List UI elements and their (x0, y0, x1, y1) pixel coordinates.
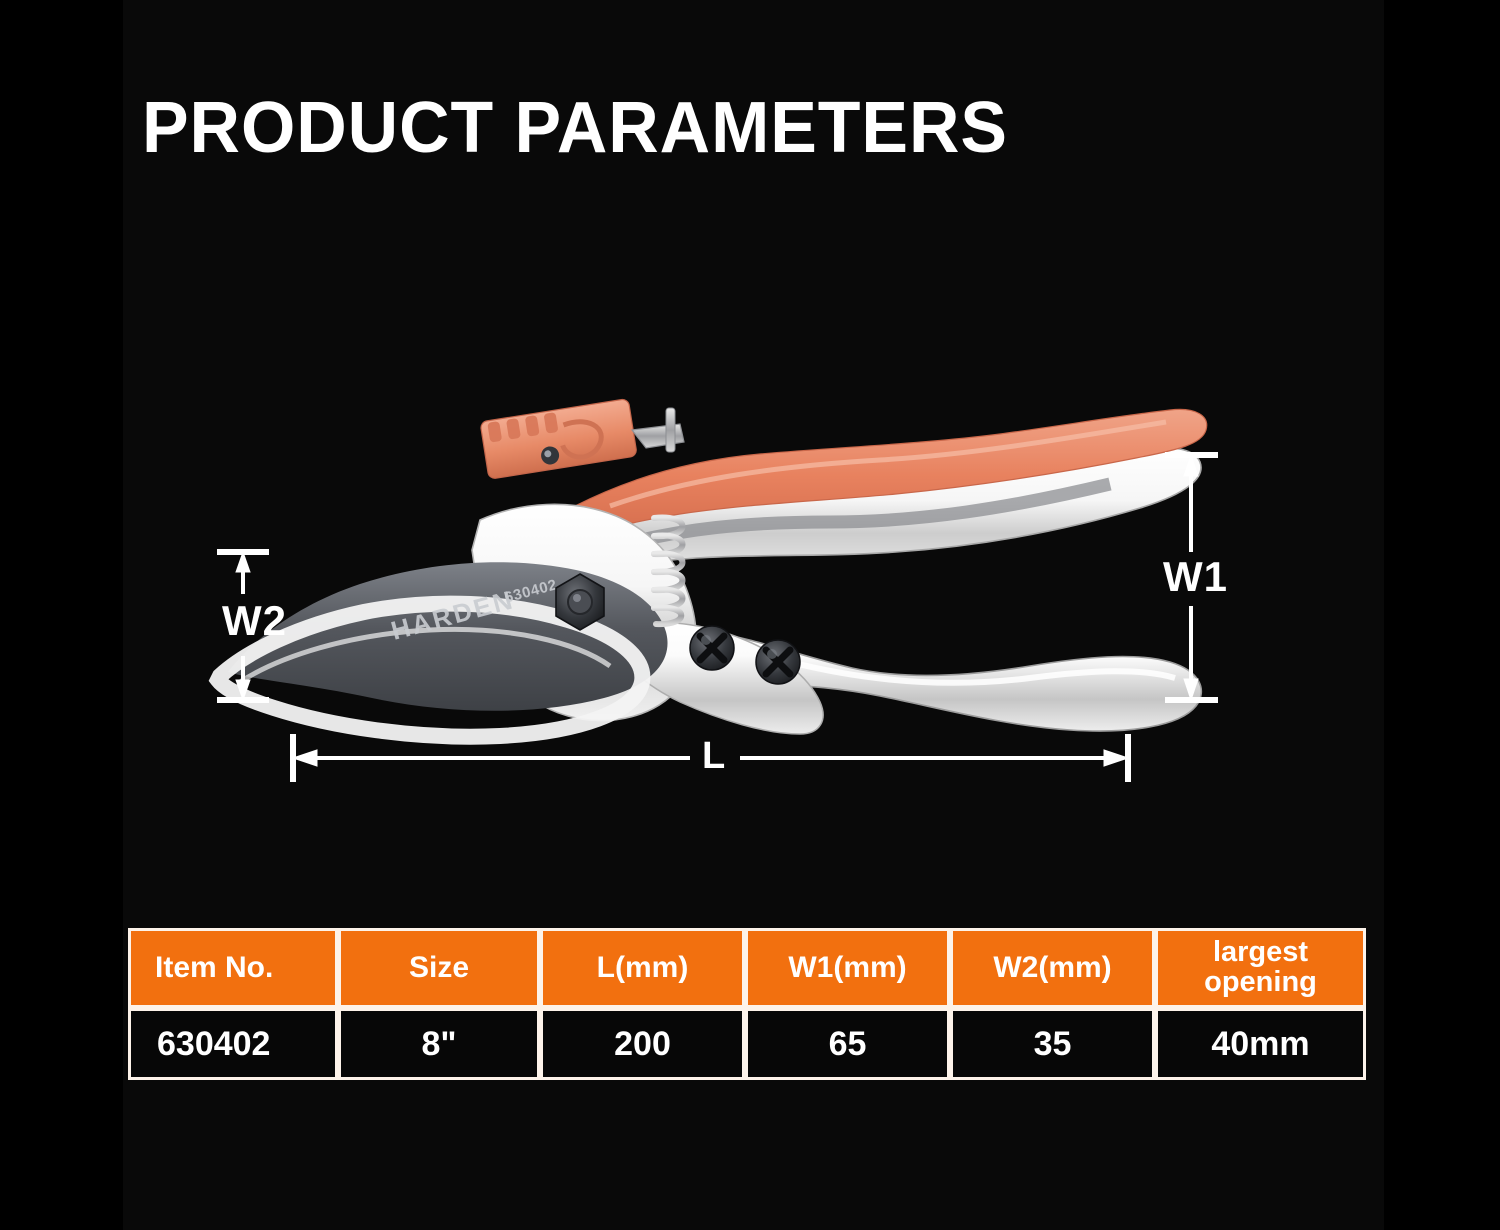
phillips-screw-upper (690, 626, 734, 670)
page-title: PRODUCT PARAMETERS (142, 92, 1008, 164)
cell-size: 8" (338, 1008, 540, 1080)
table-row: 630402 8" 200 65 35 40mm (128, 1008, 1366, 1080)
latch-hook (632, 424, 684, 448)
header-largest-opening: largest opening (1155, 928, 1366, 1008)
cell-w2: 35 (950, 1008, 1155, 1080)
dimension-l-label: L (702, 737, 725, 775)
header-largest-opening-line2: opening (1158, 968, 1363, 998)
cell-w1: 65 (745, 1008, 950, 1080)
header-w2: W2(mm) (950, 928, 1155, 1008)
spec-table-header-row: Item No. Size L(mm) W1(mm) W2(mm) larges… (128, 928, 1366, 1008)
cell-item-no: 630402 (128, 1008, 338, 1080)
spec-table: Item No. Size L(mm) W1(mm) W2(mm) larges… (128, 928, 1366, 1080)
latch-pin (666, 408, 675, 452)
header-w1: W1(mm) (745, 928, 950, 1008)
dimension-w2-label: W2 (222, 600, 287, 642)
safety-latch[interactable] (480, 399, 637, 480)
header-size: Size (338, 928, 540, 1008)
pruning-shears-illustration: HARDEN 630402 (180, 390, 1300, 810)
cell-length: 200 (540, 1008, 745, 1080)
header-largest-opening-line1: largest (1158, 938, 1363, 968)
dimension-w1-label: W1 (1163, 556, 1228, 598)
cell-largest-opening: 40mm (1155, 1008, 1366, 1080)
header-item-no: Item No. (128, 928, 338, 1008)
product-parameters-page: PRODUCT PARAMETERS (0, 0, 1500, 1230)
phillips-screw-lower (756, 640, 800, 684)
product-image-stage: HARDEN 630402 (180, 390, 1300, 810)
header-length: L(mm) (540, 928, 745, 1008)
coil-spring (654, 518, 683, 625)
